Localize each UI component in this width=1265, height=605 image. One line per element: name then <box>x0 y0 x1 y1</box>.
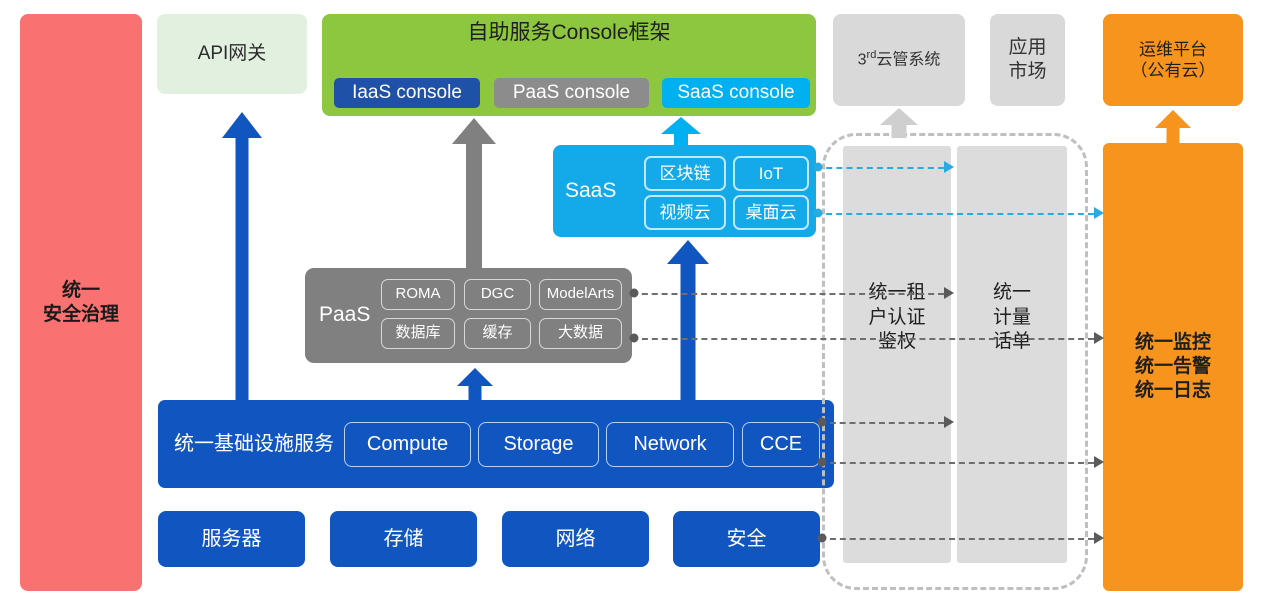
saas-chip-desktop-cloud[interactable]: 桌面云 <box>733 195 809 230</box>
hardware-label-security: 安全 <box>727 527 767 552</box>
console-framework-title: 自助服务Console框架 <box>322 20 816 46</box>
ops-platform-public-cloud-box: 运维平台 （公有云） <box>1103 14 1243 106</box>
connector-arrowhead-infra-ops <box>1094 456 1104 468</box>
connector-hardware-to-ops <box>820 538 1094 540</box>
connector-infra-to-auth <box>820 422 944 424</box>
paas-chip-cache[interactable]: 缓存 <box>464 318 531 349</box>
connector-saas-to-ops <box>816 213 1094 215</box>
connector-saas-to-auth <box>816 167 944 169</box>
saas-console-chip[interactable]: SaaS console <box>662 78 810 108</box>
hardware-box-security: 安全 <box>673 511 820 567</box>
hardware-label-server: 服务器 <box>202 527 262 552</box>
saas-layer-label: SaaS <box>565 145 616 237</box>
connector-dot-paas-auth <box>630 289 639 298</box>
connector-dot-saas-ops <box>814 209 823 218</box>
arrow-infra-to-saas <box>667 240 709 400</box>
connector-dot-saas-auth <box>814 163 823 172</box>
paas-chip-modelarts[interactable]: ModelArts <box>539 279 622 310</box>
connector-arrowhead-hardware-ops <box>1094 532 1104 544</box>
saas-chip-blockchain[interactable]: 区块链 <box>644 156 726 191</box>
app-market-label: 应用 市场 <box>1008 36 1046 84</box>
connector-dot-hardware-ops <box>818 534 827 543</box>
hardware-box-server: 服务器 <box>158 511 305 567</box>
third-party-cloud-management-box: 3rd云管系统 <box>833 14 965 106</box>
saas-chip-video-cloud[interactable]: 视频云 <box>644 195 726 230</box>
paas-chip-bigdata[interactable]: 大数据 <box>539 318 622 349</box>
arrow-infra-to-paas <box>457 368 493 401</box>
unified-infrastructure-service-box: 统一基础设施服务 Compute Storage Network CCE <box>158 400 834 488</box>
connector-arrowhead-saas-auth <box>944 161 954 173</box>
hardware-label-storage: 存储 <box>384 527 424 552</box>
ops-platform-public-cloud-label: 运维平台 （公有云） <box>1131 39 1216 82</box>
hardware-box-network: 网络 <box>502 511 649 567</box>
connector-arrowhead-infra-auth <box>944 416 954 428</box>
paas-chip-dgc[interactable]: DGC <box>464 279 531 310</box>
arrow-saas-to-console <box>661 117 701 146</box>
paas-layer-box: PaaS ROMA DGC ModelArts 数据库 缓存 大数据 <box>305 268 632 363</box>
hardware-box-storage: 存储 <box>330 511 477 567</box>
architecture-diagram: 统一 安全治理 API网关 自助服务Console框架 IaaS console… <box>0 0 1265 605</box>
console-framework-box: 自助服务Console框架 IaaS console PaaS console … <box>322 14 816 116</box>
arrow-infra-to-api-gateway <box>222 112 262 400</box>
connector-infra-to-ops <box>820 462 1094 464</box>
unified-metering-label: 统一 计量 话单 <box>957 281 1067 355</box>
connector-paas-to-ops <box>632 338 1094 340</box>
infra-chip-storage[interactable]: Storage <box>478 422 599 467</box>
api-gateway-box: API网关 <box>157 14 307 94</box>
connector-dot-paas-ops <box>630 334 639 343</box>
infra-chip-compute[interactable]: Compute <box>344 422 471 467</box>
third-party-cloud-management-label: 3rd云管系统 <box>858 49 941 70</box>
connector-dot-infra-ops <box>818 458 827 467</box>
unified-security-governance-panel: 统一 安全治理 <box>20 14 142 591</box>
saas-chip-iot[interactable]: IoT <box>733 156 809 191</box>
connector-arrowhead-paas-auth <box>944 287 954 299</box>
unified-security-governance-label: 统一 安全治理 <box>43 279 119 327</box>
connector-arrowhead-saas-ops <box>1094 207 1104 219</box>
paas-layer-label: PaaS <box>319 268 370 363</box>
infra-chip-network[interactable]: Network <box>606 422 734 467</box>
connector-paas-to-auth <box>632 293 944 295</box>
iaas-console-chip[interactable]: IaaS console <box>334 78 480 108</box>
unified-infrastructure-service-label: 统一基础设施服务 <box>174 400 334 488</box>
arrow-ops-main-to-ops-top <box>1155 110 1191 143</box>
infra-chip-cce[interactable]: CCE <box>742 422 820 467</box>
arrow-shared-to-third-party-cloud <box>880 108 918 138</box>
paas-chip-database[interactable]: 数据库 <box>381 318 455 349</box>
connector-dot-infra-auth <box>818 418 827 427</box>
arrow-paas-to-console <box>452 118 496 268</box>
connector-arrowhead-paas-ops <box>1094 332 1104 344</box>
app-market-box: 应用 市场 <box>990 14 1065 106</box>
api-gateway-label: API网关 <box>198 42 267 66</box>
paas-console-chip[interactable]: PaaS console <box>494 78 649 108</box>
ops-platform-main-panel: 统一监控 统一告警 统一日志 <box>1103 143 1243 591</box>
ops-platform-main-label: 统一监控 统一告警 统一日志 <box>1135 331 1211 402</box>
saas-layer-box: SaaS 区块链 IoT 视频云 桌面云 <box>553 145 816 237</box>
hardware-label-network: 网络 <box>556 527 596 552</box>
paas-chip-roma[interactable]: ROMA <box>381 279 455 310</box>
